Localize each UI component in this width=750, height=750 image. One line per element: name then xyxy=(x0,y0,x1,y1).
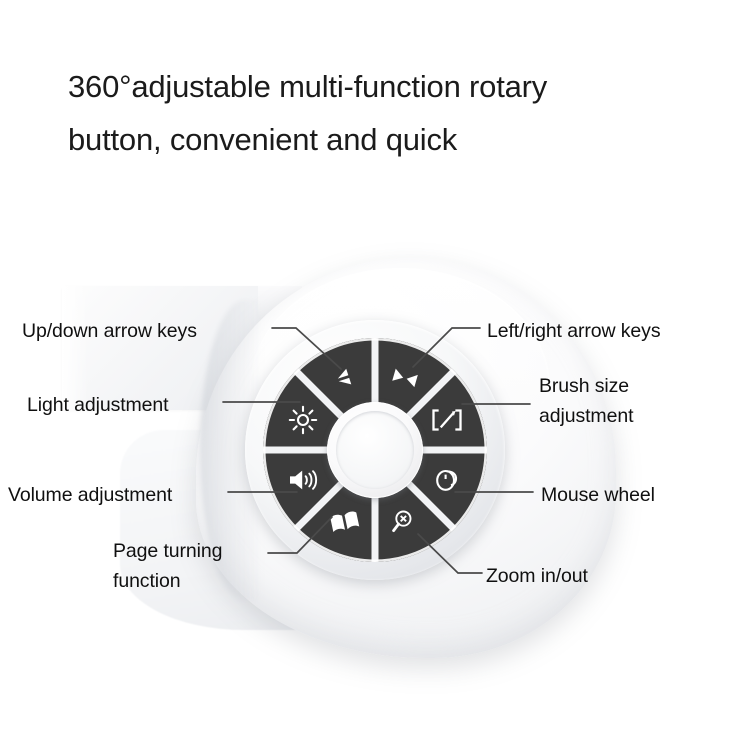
callout-brush-size-line-2: adjustment xyxy=(539,405,633,427)
callout-page-turning-function: Page turning function xyxy=(113,536,283,596)
callout-brush-size-adjustment: Brush size adjustment xyxy=(539,371,739,431)
callout-up-down-arrow-keys: Up/down arrow keys xyxy=(22,316,197,346)
rotary-dial[interactable] xyxy=(263,338,487,562)
callout-page-turning-line-1: Page turning xyxy=(113,540,222,562)
dial-center-hub[interactable] xyxy=(327,402,423,498)
callout-light-adjustment: Light adjustment xyxy=(27,390,169,420)
callout-mouse-wheel: Mouse wheel xyxy=(541,480,655,510)
callout-left-right-arrow-keys: Left/right arrow keys xyxy=(487,316,660,346)
callout-zoom-in-out: Zoom in/out xyxy=(486,561,588,591)
product-infographic: 360°adjustable multi-function rotary but… xyxy=(0,0,750,750)
dial-face xyxy=(263,338,487,562)
callout-volume-adjustment: Volume adjustment xyxy=(8,480,172,510)
callout-brush-size-line-1: Brush size xyxy=(539,375,629,397)
callout-page-turning-line-2: function xyxy=(113,570,181,592)
